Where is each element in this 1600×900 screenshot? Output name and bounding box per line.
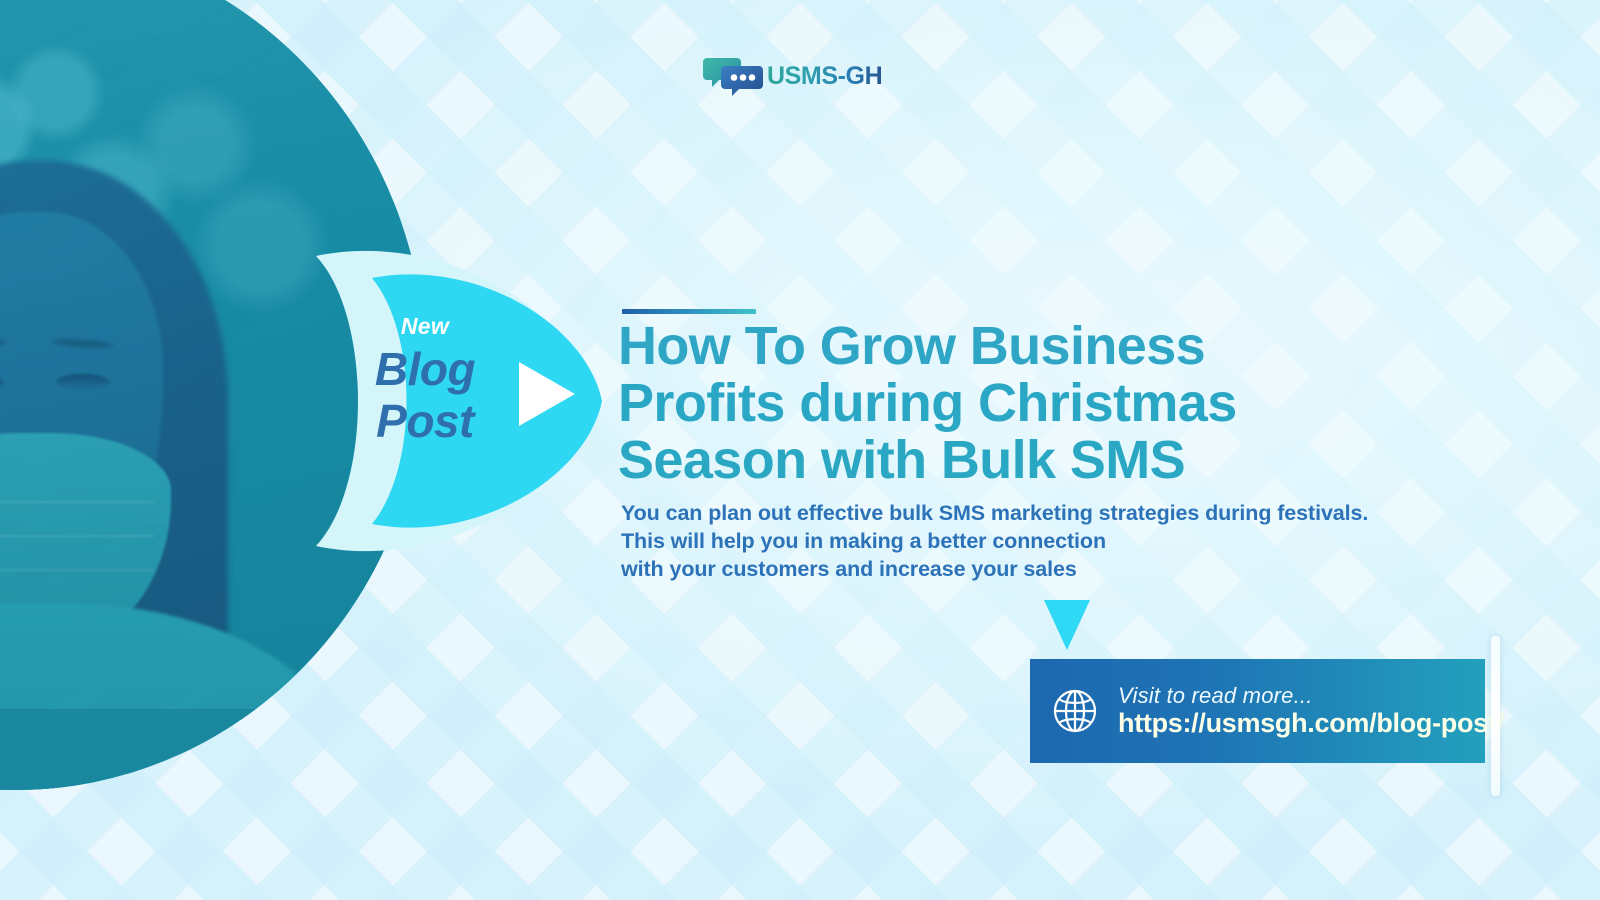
blog-post-badge[interactable]: New Blog Post <box>276 236 616 566</box>
visit-url-banner[interactable]: Visit to read more... https://usmsgh.com… <box>1030 659 1485 763</box>
page-title: How To Grow Business Profits during Chri… <box>618 318 1398 489</box>
subcopy-line-2: This will help you in making a better co… <box>621 528 1521 556</box>
promo-banner: New Blog Post USMS-GH <box>0 0 1600 900</box>
headline-line-1: How To Grow Business <box>618 318 1398 375</box>
brand-logo[interactable]: USMS-GH <box>703 55 882 97</box>
subcopy: You can plan out effective bulk SMS mark… <box>621 500 1521 584</box>
subcopy-line-3: with your customers and increase your sa… <box>621 556 1521 584</box>
headline-rule <box>622 309 756 314</box>
headline-line-3: Season with Bulk SMS <box>618 432 1398 489</box>
brand-wordmark: USMS-GH <box>767 62 882 91</box>
side-scrollbar[interactable] <box>1491 636 1500 796</box>
speech-bubbles-icon <box>703 55 765 97</box>
blog-url[interactable]: https://usmsgh.com/blog-post/ <box>1118 708 1504 738</box>
visit-prompt: Visit to read more... <box>1118 684 1504 709</box>
subcopy-line-1: You can plan out effective bulk SMS mark… <box>621 500 1521 528</box>
down-triangle-icon <box>1044 600 1090 650</box>
headline-line-2: Profits during Christmas <box>618 375 1398 432</box>
globe-icon <box>1050 686 1100 736</box>
url-text-group: Visit to read more... https://usmsgh.com… <box>1118 684 1504 739</box>
play-triangle-icon[interactable] <box>519 362 575 426</box>
